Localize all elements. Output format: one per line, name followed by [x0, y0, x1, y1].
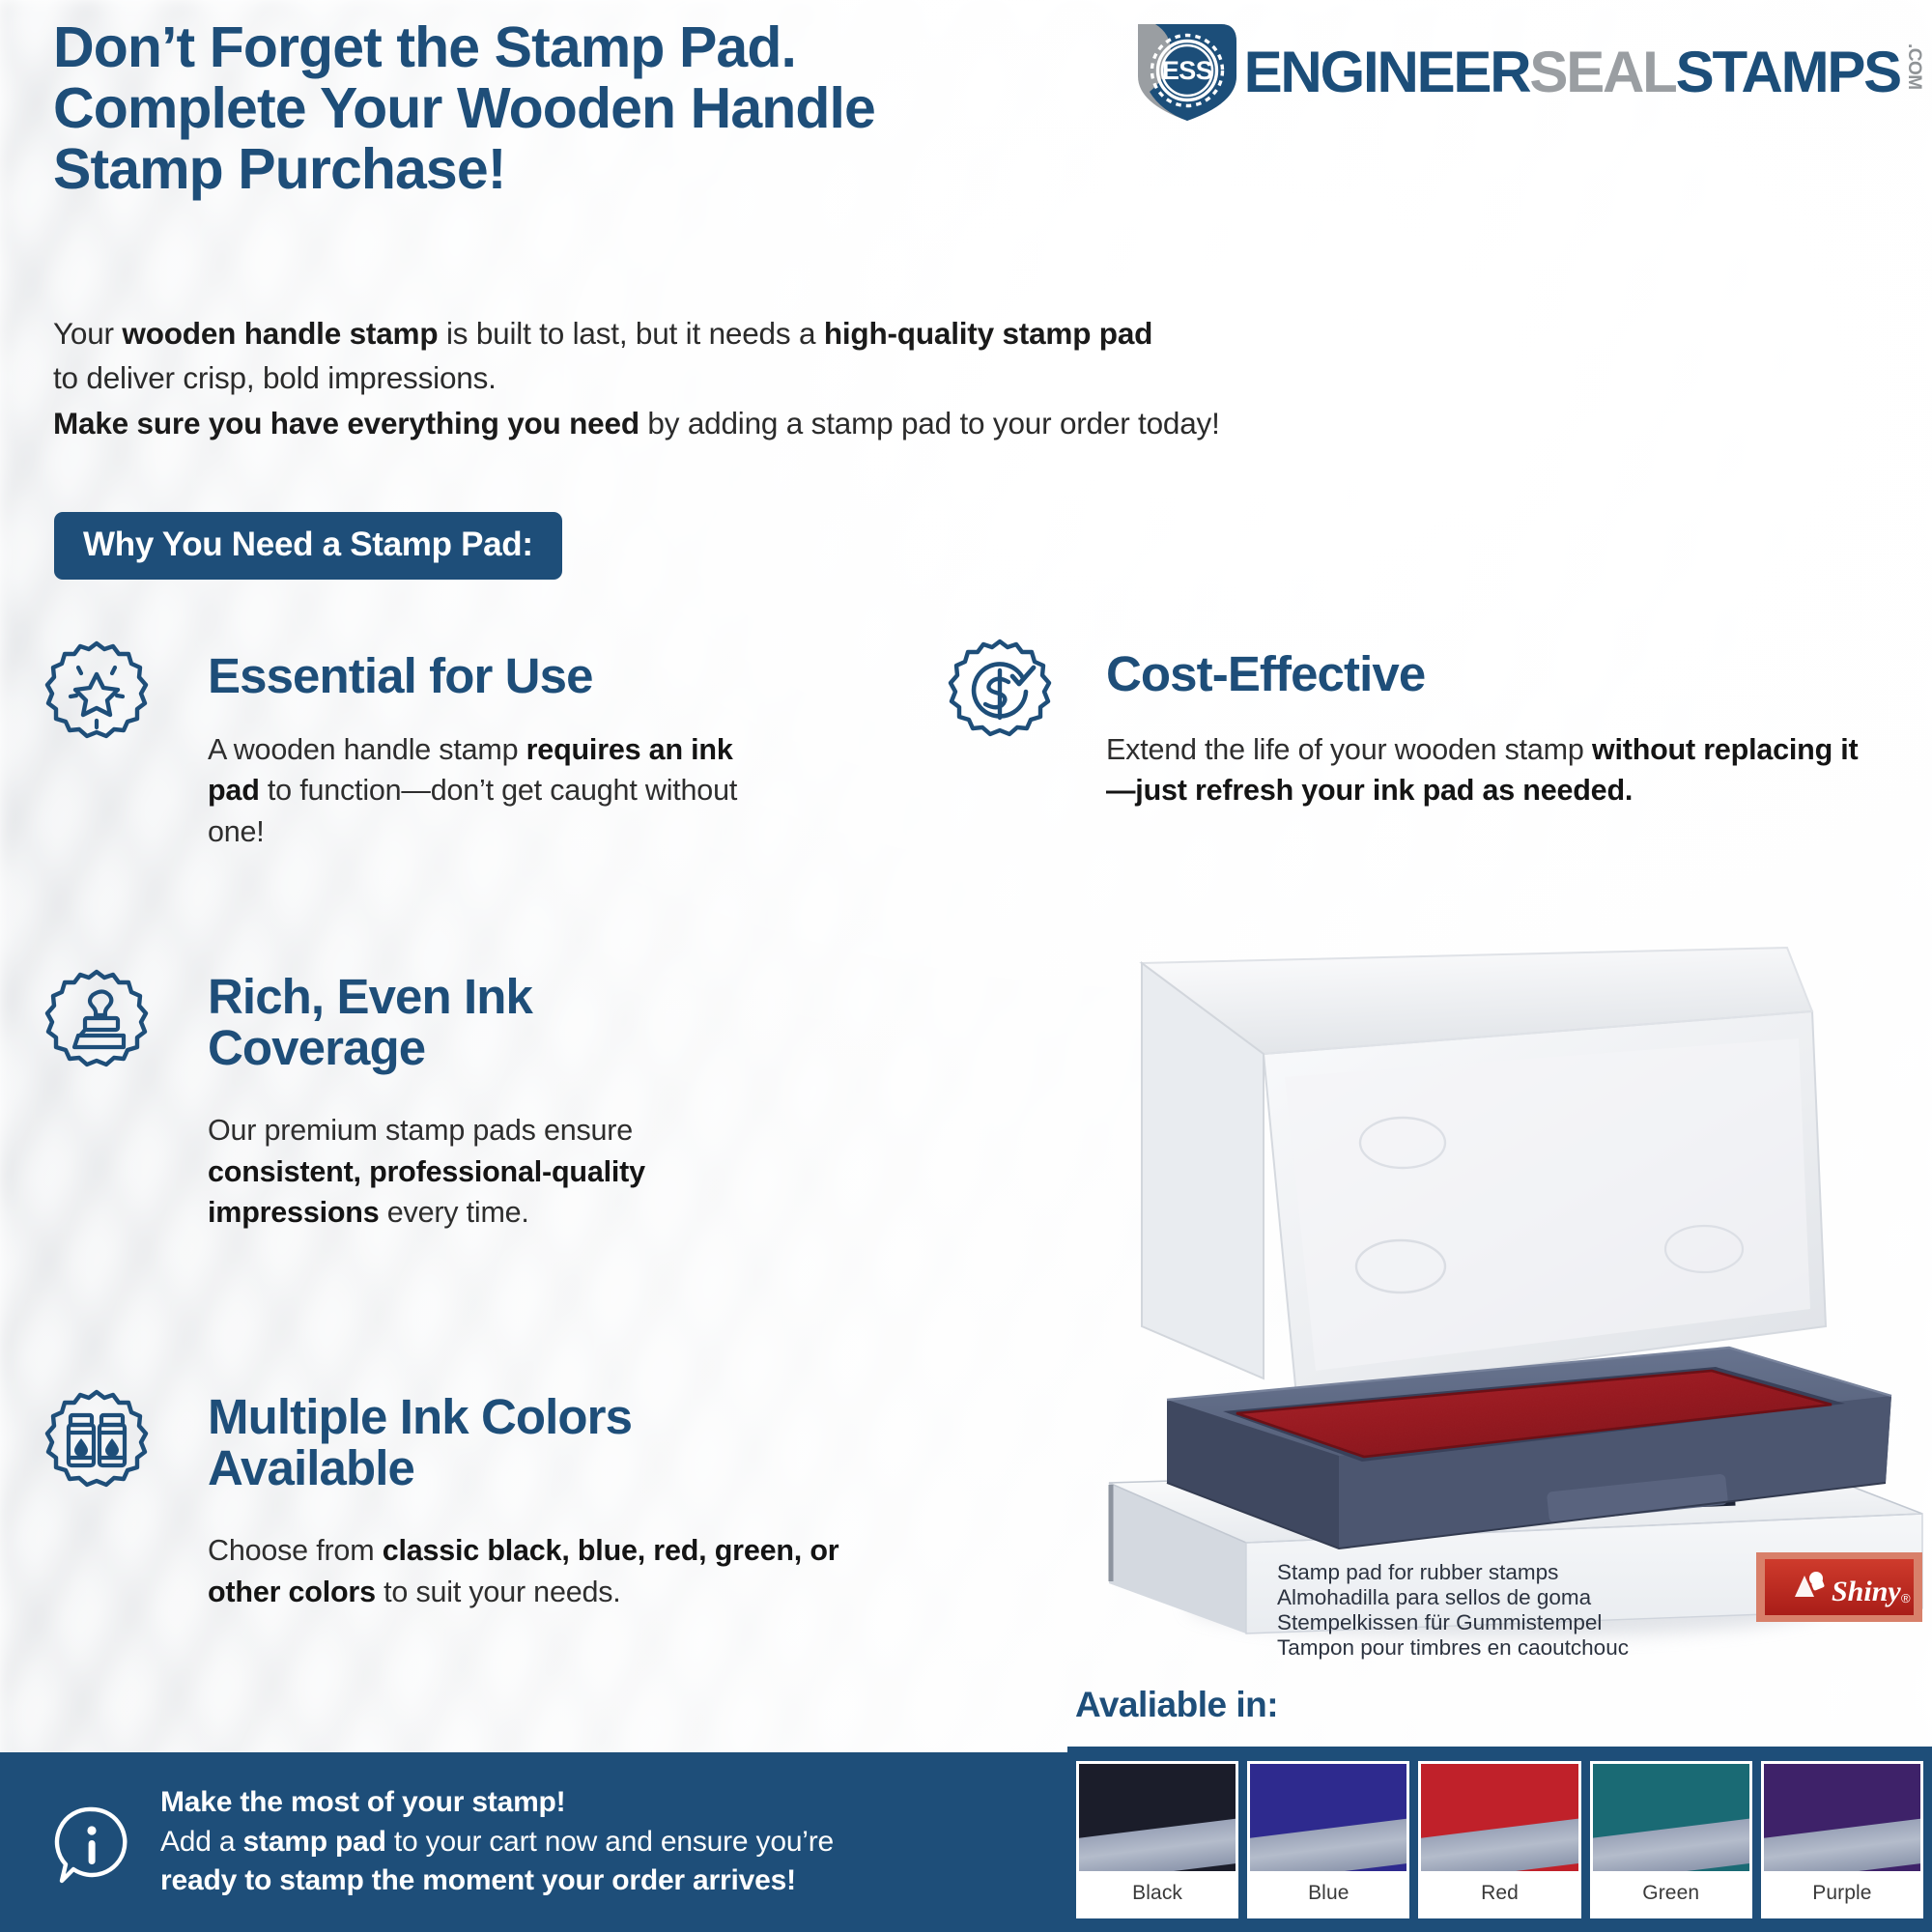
feature-multiple-ink-colors: Multiple Ink Colors Available Choose fro… [39, 1386, 1005, 1612]
intro-l3-rest: by adding a stamp pad to your order toda… [639, 406, 1220, 440]
box-line-4: Tampon pour timbres en caoutchouc [1277, 1635, 1629, 1660]
brand-word-seal: SEAL [1529, 43, 1675, 101]
intro-paragraph: Your wooden handle stamp is built to las… [53, 311, 1753, 445]
feature-title: Multiple Ink Colors Available [208, 1386, 807, 1493]
svg-text:ESS: ESS [1161, 56, 1211, 85]
product-photo-stamp-pad: Stamp pad for rubber stamps Almohadilla … [1053, 942, 1932, 1705]
feature-title: Rich, Even Ink Coverage [208, 966, 749, 1073]
rubber-stamp-badge-icon [39, 966, 155, 1082]
star-badge-icon [39, 638, 155, 753]
feature-body: Our premium stamp pads ensure consistent… [208, 1110, 749, 1234]
brand-logo[interactable]: ESS ENGINEER SEAL STAMPS .COM [1132, 19, 1924, 126]
page-title: Don’t Forget the Stamp Pad. Complete You… [53, 17, 1212, 200]
brand-wordmark: ENGINEER SEAL STAMPS [1244, 43, 1900, 101]
stamp-pad-lid [1142, 948, 1826, 1396]
feature-title: Essential for Use [208, 638, 908, 702]
available-in-label: Avaliable in: [1075, 1685, 1278, 1725]
ess-shield-gear-icon: ESS [1132, 20, 1248, 125]
feature-body: A wooden handle stamp requires an ink pa… [208, 729, 787, 853]
swatch-blue[interactable]: Blue [1247, 1761, 1409, 1918]
cta-line-1: Make the most of your stamp! [160, 1783, 834, 1823]
feature-body-a: A wooden handle stamp [208, 733, 526, 766]
swatch-label: Blue [1250, 1871, 1406, 1916]
swatch-label: Purple [1764, 1871, 1920, 1916]
swatch-pad-preview [1421, 1764, 1577, 1871]
feature-body-c: to function—don’t get caught without one… [208, 774, 737, 848]
swatch-label: Green [1593, 1871, 1749, 1916]
brand-word-dotcom: .COM [1903, 43, 1924, 90]
swatch-black[interactable]: Black [1076, 1761, 1238, 1918]
why-banner: Why You Need a Stamp Pad: [54, 512, 562, 580]
feature-body: Extend the life of your wooden stamp wit… [1106, 729, 1879, 811]
feature-title: Cost-Effective [1106, 636, 1908, 700]
headline-line-2: Complete Your Wooden Handle [53, 78, 1212, 139]
shiny-brand-logo: Shiny ® [1756, 1552, 1922, 1622]
ink-bottles-badge-icon [39, 1386, 155, 1502]
cta-line-2-c: to your cart now and ensure you’re [386, 1826, 834, 1858]
feature-body-a: Choose from [208, 1534, 383, 1567]
brand-word-engineer: ENGINEER [1244, 43, 1530, 101]
infographic-page: Don’t Forget the Stamp Pad. Complete You… [0, 0, 1932, 1932]
box-line-1: Stamp pad for rubber stamps [1277, 1560, 1558, 1584]
swatch-pad-preview [1764, 1764, 1920, 1871]
brand-word-stamps: STAMPS [1676, 43, 1900, 101]
info-bubble-icon [50, 1804, 133, 1887]
swatch-purple[interactable]: Purple [1761, 1761, 1923, 1918]
intro-l3-bold: Make sure you have everything you need [53, 406, 639, 440]
cta-line-3: ready to stamp the moment your order arr… [160, 1861, 834, 1901]
svg-text:Shiny: Shiny [1832, 1576, 1901, 1607]
swatch-red[interactable]: Red [1418, 1761, 1580, 1918]
intro-l2: to deliver crisp, bold impressions. [53, 360, 497, 395]
feature-body-a: Our premium stamp pads ensure [208, 1114, 633, 1147]
box-line-3: Stempelkissen für Gummistempel [1277, 1610, 1602, 1634]
swatch-label: Red [1421, 1871, 1577, 1916]
intro-l1-c: is built to last, but it needs a [438, 316, 823, 351]
swatch-pad-preview [1593, 1764, 1749, 1871]
intro-l1-a: Your [53, 316, 122, 351]
swatch-pad-preview [1250, 1764, 1406, 1871]
feature-cost-effective: Cost-Effective Extend the life of your w… [942, 636, 1908, 811]
cta-text: Make the most of your stamp! Add a stamp… [160, 1783, 834, 1901]
feature-essential-for-use: Essential for Use A wooden handle stamp … [39, 638, 908, 853]
feature-body-c: to suit your needs. [376, 1576, 621, 1608]
box-line-2: Almohadilla para sellos de goma [1277, 1585, 1592, 1609]
svg-text:®: ® [1901, 1591, 1911, 1605]
intro-l1-bold2: high-quality stamp pad [824, 316, 1152, 351]
cta-line-2-b: stamp pad [243, 1826, 386, 1858]
cta-section: Make the most of your stamp! Add a stamp… [0, 1752, 1063, 1932]
color-swatch-band: Black Blue Red Green [1067, 1747, 1932, 1932]
feature-rich-even-ink-coverage: Rich, Even Ink Coverage Our premium stam… [39, 966, 908, 1234]
swatch-label: Black [1079, 1871, 1236, 1916]
dollar-check-badge-icon [942, 636, 1058, 752]
swatch-pad-preview [1079, 1764, 1236, 1871]
headline-line-1: Don’t Forget the Stamp Pad. [53, 17, 1212, 78]
cta-line-2: Add a stamp pad to your cart now and ens… [160, 1823, 834, 1862]
intro-l1-bold: wooden handle stamp [122, 316, 438, 351]
cta-line-2-a: Add a [160, 1826, 243, 1858]
headline-line-3: Stamp Purchase! [53, 139, 1212, 200]
feature-body: Choose from classic black, blue, red, gr… [208, 1530, 845, 1612]
swatch-green[interactable]: Green [1590, 1761, 1752, 1918]
feature-body-c: every time. [379, 1196, 528, 1229]
feature-body-a: Extend the life of your wooden stamp [1106, 733, 1592, 766]
